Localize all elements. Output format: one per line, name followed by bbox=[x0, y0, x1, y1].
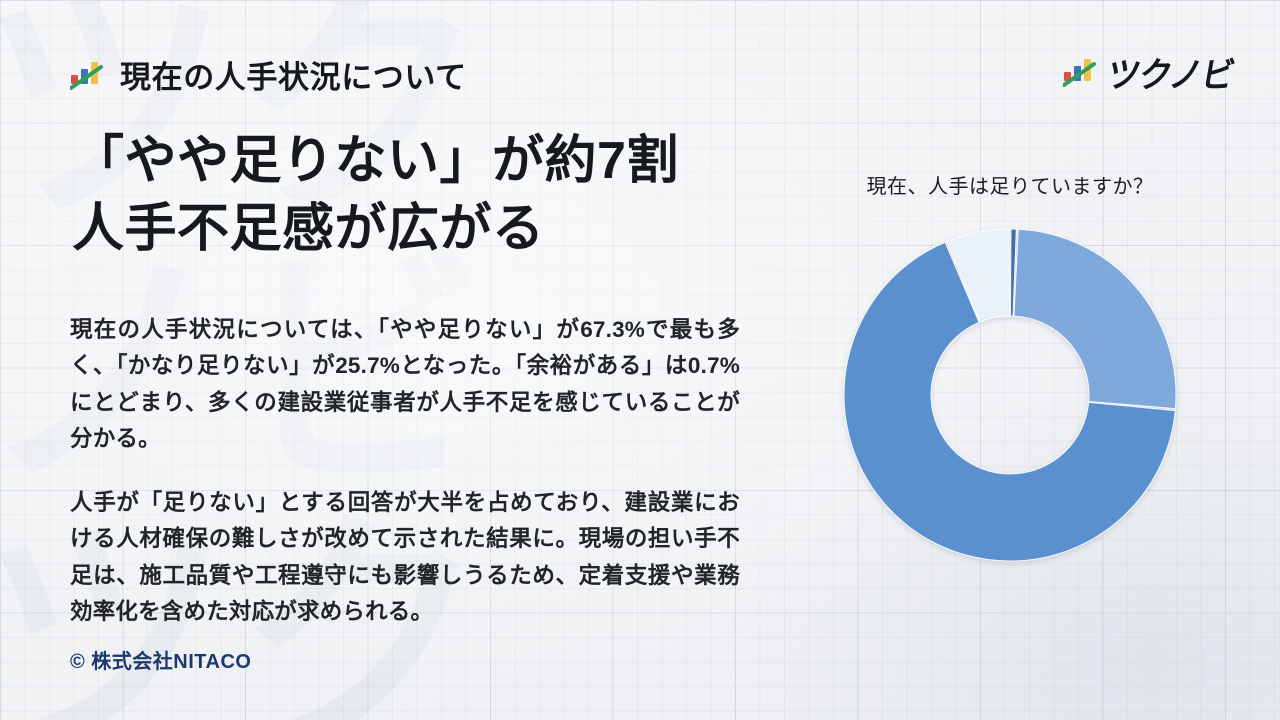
donut-svg bbox=[840, 225, 1180, 565]
brand-name: ツクノビ bbox=[1103, 47, 1238, 98]
body-paragraph-1: 現在の人手状況については、「やや足りない」が67.3%で最も多く、「かなり足りな… bbox=[70, 312, 740, 458]
copyright-notice: © 株式会社NITACO bbox=[70, 645, 251, 674]
bar-chart-logo-icon bbox=[70, 60, 104, 90]
chart-title: 現在、人手は足りていますか？ bbox=[760, 170, 1260, 199]
headline-line-1: 「やや足りない」が約7割 bbox=[72, 132, 679, 190]
donut-slice-group bbox=[844, 229, 1176, 561]
brand-logo: ツクノビ bbox=[1063, 48, 1234, 96]
headline: 「やや足りない」が約7割 人手不足感が広がる bbox=[72, 128, 679, 263]
bar-chart-logo-icon bbox=[1063, 57, 1097, 87]
donut-chart: 現在、人手は足りていますか？ ちょうどいい 6.3% かなり足りない 25.7%… bbox=[760, 150, 1260, 670]
header: 現在の人手状況について bbox=[70, 52, 467, 97]
page-title: 現在の人手状況について bbox=[120, 52, 467, 97]
slide-canvas: ツク ノビ ツク 現在の人手状況について ツクノビ 「やや足りない」が約7割 bbox=[0, 0, 1280, 720]
donut-graphic bbox=[840, 225, 1180, 565]
headline-line-2: 人手不足感が広がる bbox=[72, 196, 679, 264]
donut-slice bbox=[1014, 229, 1176, 408]
body-paragraph-2: 人手が「足りない」とする回答が大半を占めており、建設業における人材確保の難しさが… bbox=[70, 485, 740, 631]
